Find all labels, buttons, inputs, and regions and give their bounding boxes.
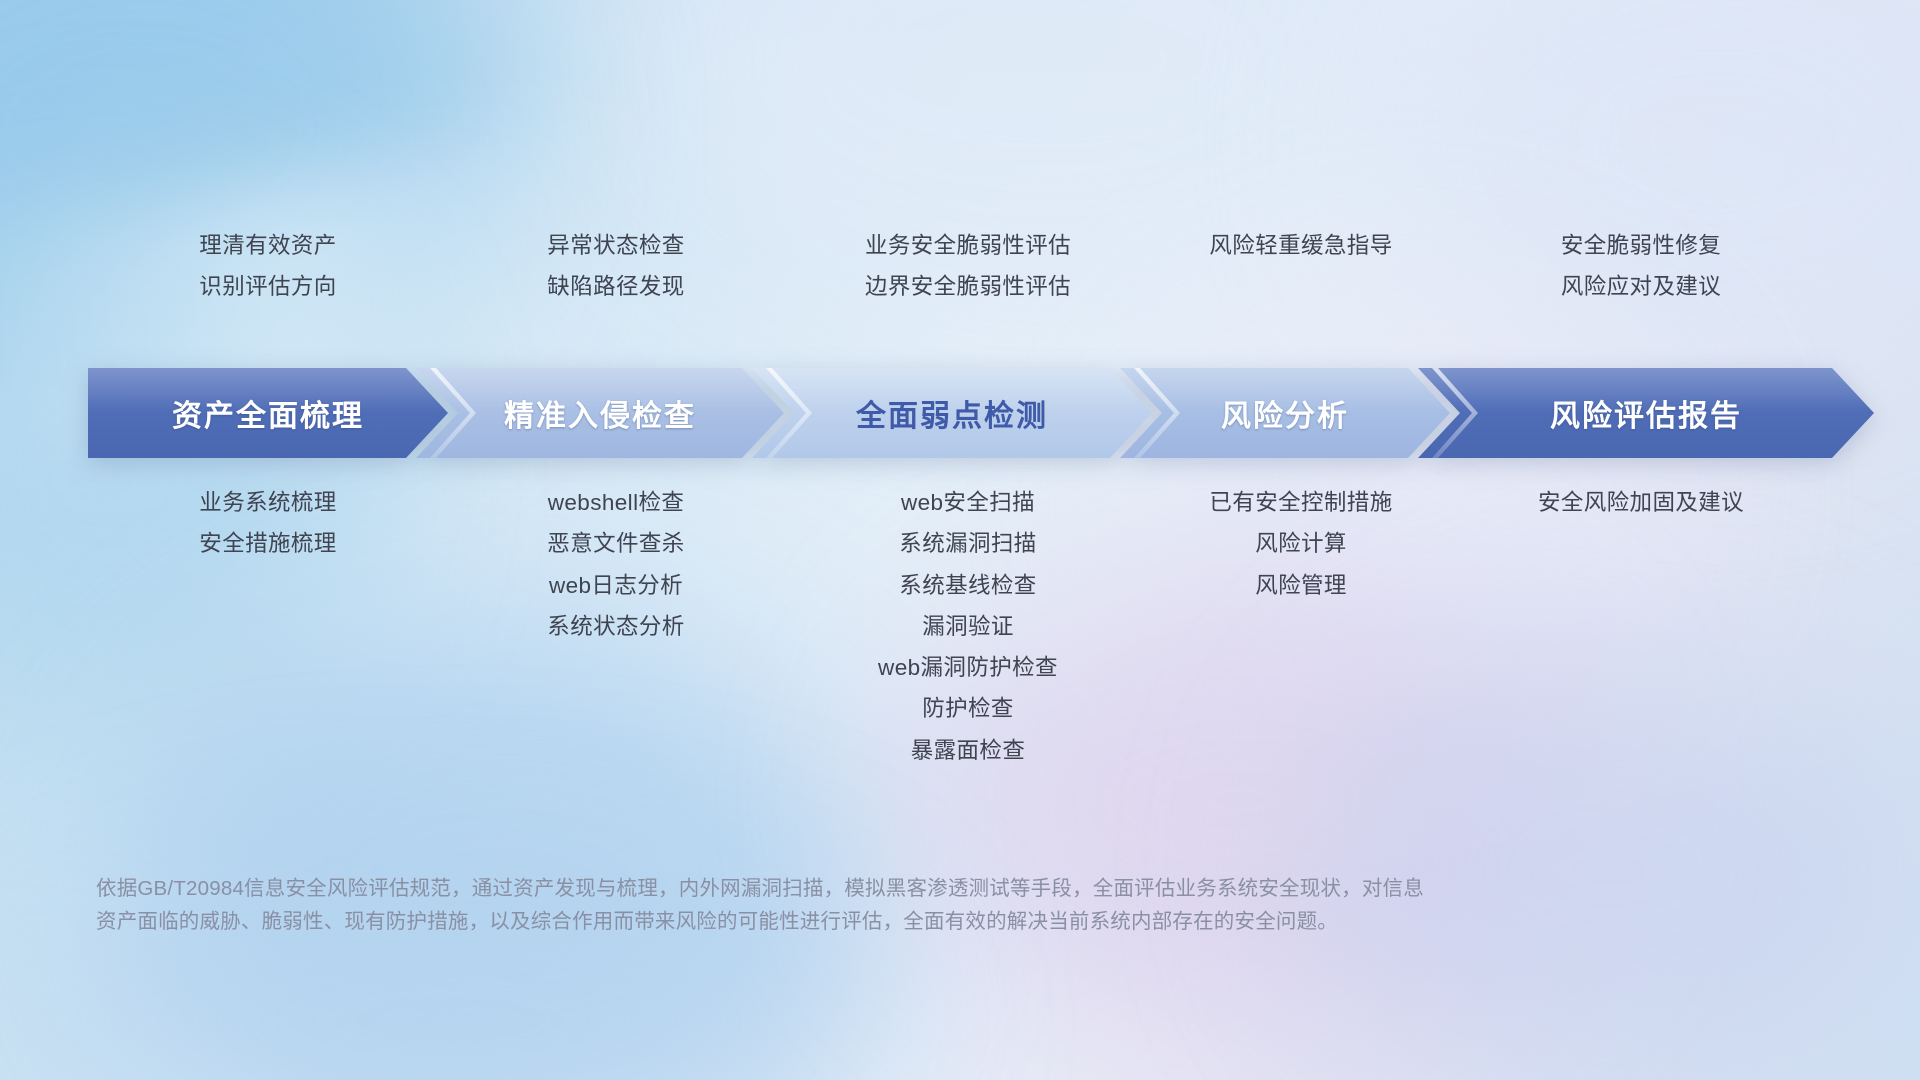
process-chevron-banner: 资产全面梳理 精准入侵检查 全面弱点检测 风险分析 风险评估报告 xyxy=(88,368,1842,458)
chevron-step-risk-report[interactable]: 风险评估报告 xyxy=(1418,368,1874,458)
bottom-list-asset-inventory: 业务系统梳理 安全措施梳理 xyxy=(88,488,448,559)
caption-text: 异常状态检查 xyxy=(547,232,684,261)
top-captions-intrusion-inspection: 异常状态检查 缺陷路径发现 xyxy=(448,232,784,302)
list-item: 安全风险加固及建议 xyxy=(1538,488,1744,517)
list-item: 风险管理 xyxy=(1255,571,1347,600)
list-item: web日志分析 xyxy=(549,571,683,600)
list-item: 风险计算 xyxy=(1255,529,1347,558)
list-item: web安全扫描 xyxy=(901,488,1035,517)
bottom-list-intrusion-inspection: webshell检查 恶意文件查杀 web日志分析 系统状态分析 xyxy=(448,488,784,641)
footnote-line: 资产面临的威胁、脆弱性、现有防护措施，以及综合作用而带来风险的可能性进行评估，全… xyxy=(96,905,1736,938)
list-item: webshell检查 xyxy=(548,488,685,517)
top-captions-risk-analysis: 风险轻重缓急指导 xyxy=(1152,232,1450,302)
caption-text: 缺陷路径发现 xyxy=(547,273,684,302)
caption-text: 理清有效资产 xyxy=(199,232,336,261)
chevron-step-label: 精准入侵检查 xyxy=(504,391,696,435)
top-captions-asset-inventory: 理清有效资产 识别评估方向 xyxy=(88,232,448,302)
chevron-step-label: 全面弱点检测 xyxy=(856,391,1048,435)
bottom-list-risk-analysis: 已有安全控制措施 风险计算 风险管理 xyxy=(1152,488,1450,600)
diagram-root: 理清有效资产 识别评估方向 异常状态检查 缺陷路径发现 业务安全脆弱性评估 边界… xyxy=(0,0,1920,1080)
caption-text: 边界安全脆弱性评估 xyxy=(865,273,1071,302)
chevron-step-risk-analysis[interactable]: 风险分析 xyxy=(1120,368,1450,458)
top-captions-risk-report: 安全脆弱性修复 风险应对及建议 xyxy=(1450,232,1832,302)
list-item: 系统漏洞扫描 xyxy=(899,529,1036,558)
caption-text: 风险应对及建议 xyxy=(1561,273,1721,302)
chevron-step-label: 风险分析 xyxy=(1221,391,1349,435)
chevron-step-weakness-detection[interactable]: 全面弱点检测 xyxy=(752,368,1152,458)
list-item: 已有安全控制措施 xyxy=(1209,488,1392,517)
chevron-step-label: 资产全面梳理 xyxy=(172,391,364,435)
caption-text: 业务安全脆弱性评估 xyxy=(865,232,1071,261)
list-item: 防护检查 xyxy=(922,694,1014,723)
list-item: 系统基线检查 xyxy=(899,571,1036,600)
footnote-line: 依据GB/T20984信息安全风险评估规范，通过资产发现与梳理，内外网漏洞扫描，… xyxy=(96,872,1736,905)
list-item: web漏洞防护检查 xyxy=(878,653,1058,682)
bottom-list-weakness-detection: web安全扫描 系统漏洞扫描 系统基线检查 漏洞验证 web漏洞防护检查 防护检… xyxy=(784,488,1152,765)
list-item: 安全措施梳理 xyxy=(199,529,336,558)
chevron-step-asset-inventory[interactable]: 资产全面梳理 xyxy=(88,368,448,458)
bottom-list-risk-report: 安全风险加固及建议 xyxy=(1450,488,1832,517)
top-captions-weakness-detection: 业务安全脆弱性评估 边界安全脆弱性评估 xyxy=(784,232,1152,302)
list-item: 恶意文件查杀 xyxy=(547,529,684,558)
caption-text: 识别评估方向 xyxy=(199,273,336,302)
footnote: 依据GB/T20984信息安全风险评估规范，通过资产发现与梳理，内外网漏洞扫描，… xyxy=(96,872,1736,938)
list-item: 系统状态分析 xyxy=(547,612,684,641)
caption-text: 风险轻重缓急指导 xyxy=(1209,232,1392,261)
list-item: 暴露面检查 xyxy=(911,736,1026,765)
list-item: 业务系统梳理 xyxy=(199,488,336,517)
chevron-step-intrusion-inspection[interactable]: 精准入侵检查 xyxy=(416,368,784,458)
chevron-step-label: 风险评估报告 xyxy=(1550,391,1742,435)
list-item: 漏洞验证 xyxy=(922,612,1014,641)
top-caption-row: 理清有效资产 识别评估方向 异常状态检查 缺陷路径发现 业务安全脆弱性评估 边界… xyxy=(0,232,1920,302)
caption-text: 安全脆弱性修复 xyxy=(1561,232,1721,261)
bottom-list-row: 业务系统梳理 安全措施梳理 webshell检查 恶意文件查杀 web日志分析 … xyxy=(0,488,1920,765)
